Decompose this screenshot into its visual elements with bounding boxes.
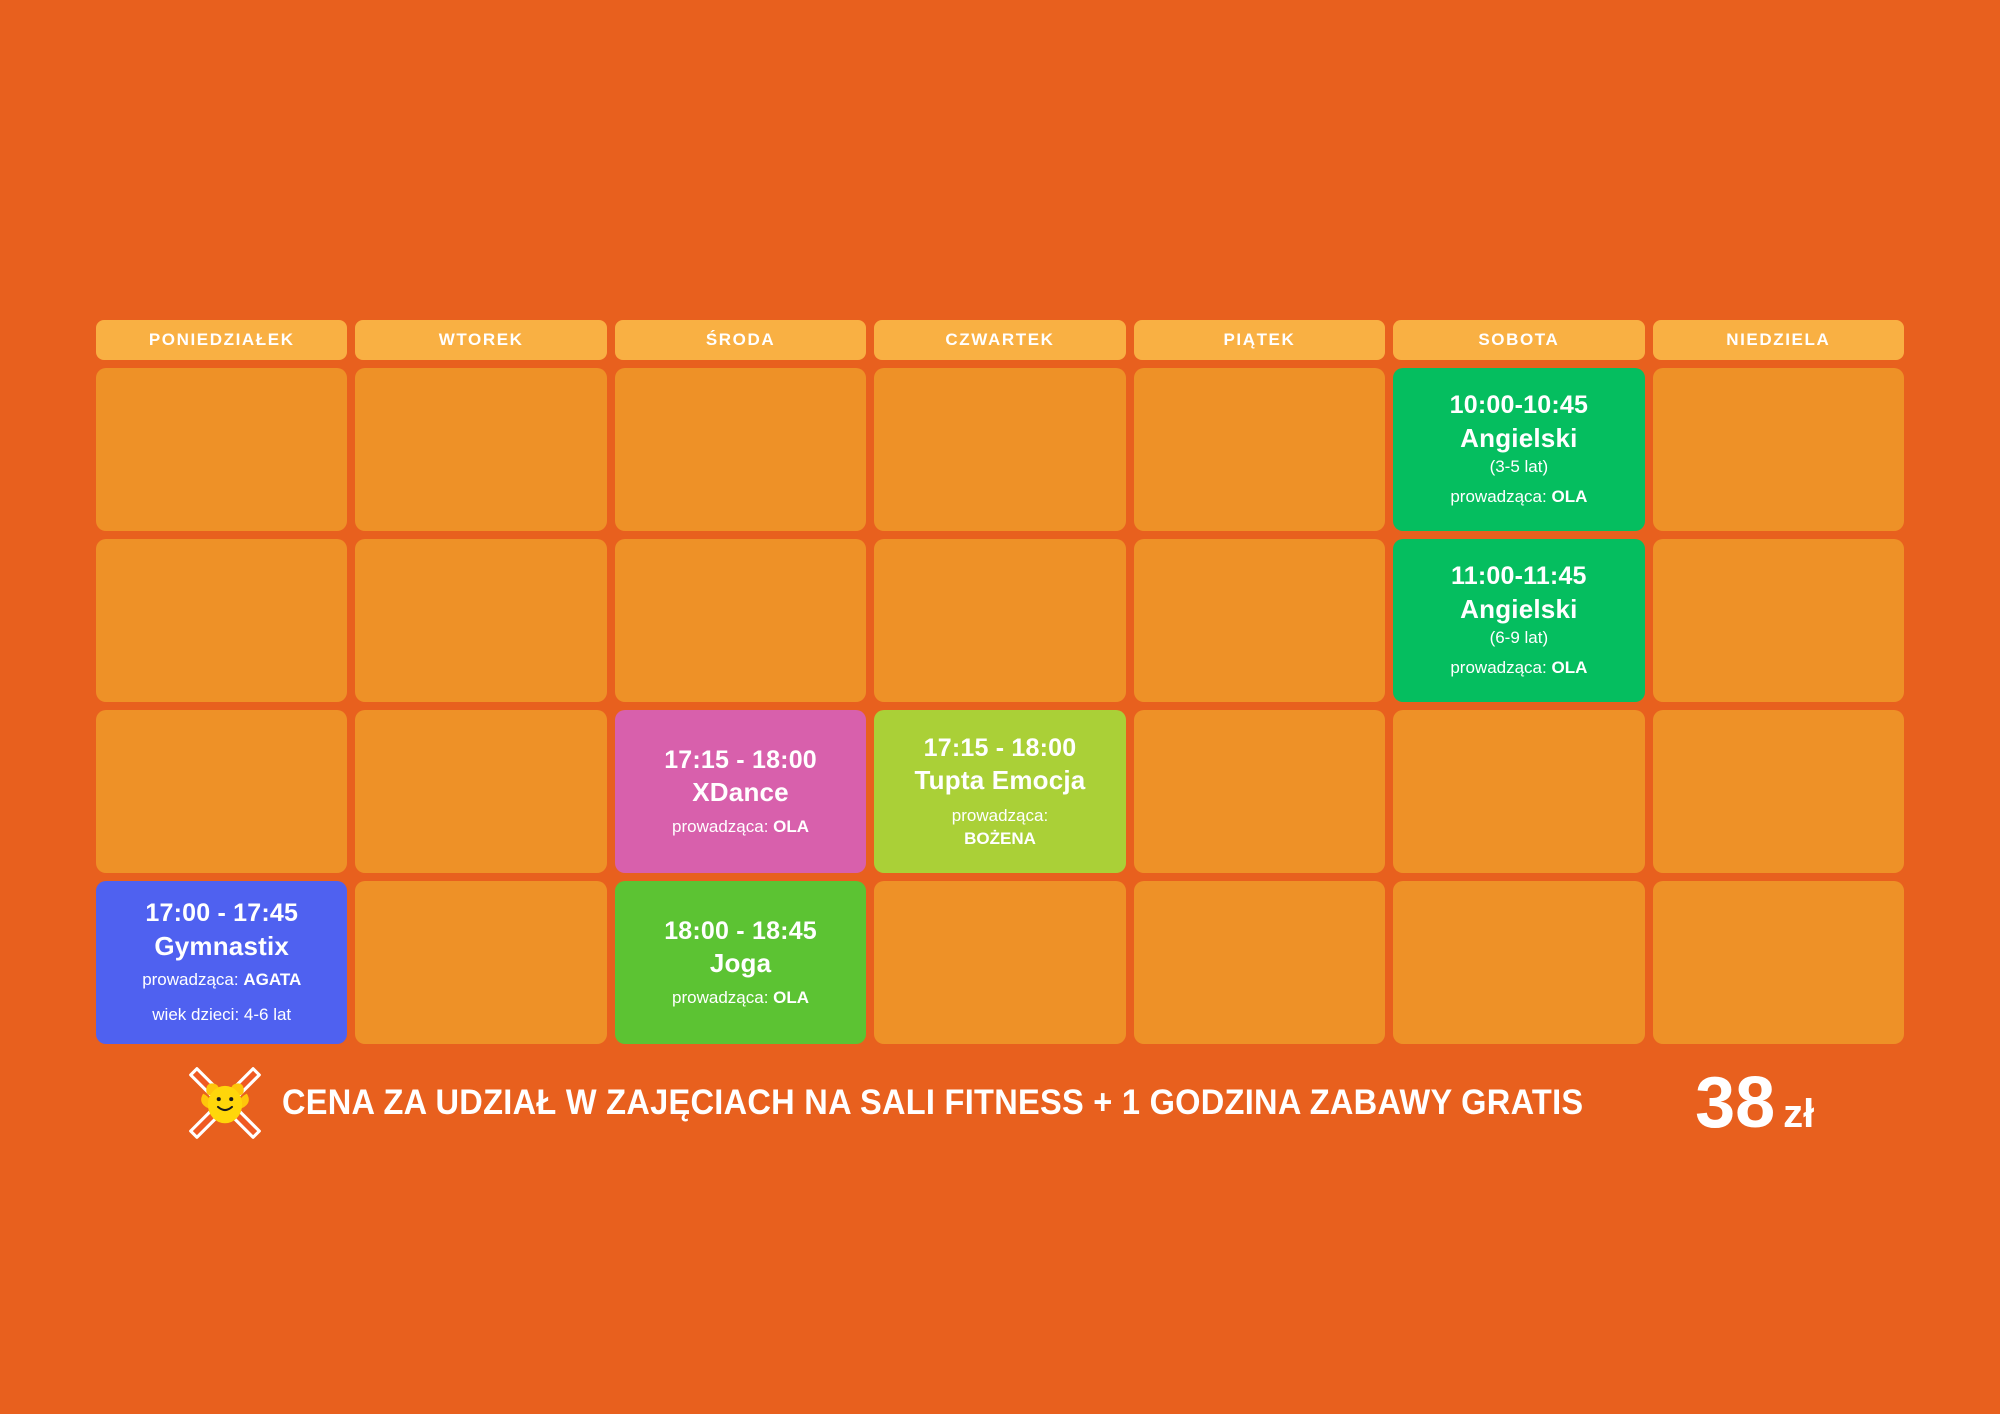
class-title: Angielski (1460, 422, 1577, 455)
empty-slot (615, 539, 866, 702)
empty-slot (1134, 710, 1385, 873)
empty-slot (1393, 710, 1644, 873)
class-time: 17:00 - 17:45 (145, 898, 298, 929)
price-value: 38 zł (1695, 1067, 1814, 1139)
instructor-name: BOŻENA (964, 829, 1036, 848)
day-header-2: ŚRODA (615, 320, 866, 360)
empty-slot (1134, 368, 1385, 531)
day-header-1: WTOREK (355, 320, 606, 360)
instructor-label: prowadząca: (1450, 487, 1551, 506)
class-age-range: (3-5 lat) (1490, 456, 1549, 478)
empty-slot (96, 710, 347, 873)
class-card[interactable]: 18:00 - 18:45Jogaprowadząca: OLA (615, 881, 866, 1044)
instructor-name: OLA (773, 817, 809, 836)
class-time: 18:00 - 18:45 (664, 916, 817, 947)
class-card[interactable]: 10:00-10:45Angielski(3-5 lat)prowadząca:… (1393, 368, 1644, 531)
class-title: Tupta Emocja (915, 764, 1086, 797)
empty-slot (355, 368, 606, 531)
price-amount: 38 (1695, 1067, 1775, 1139)
day-header-5: SOBOTA (1393, 320, 1644, 360)
empty-slot (1653, 368, 1904, 531)
empty-slot (1134, 881, 1385, 1044)
class-instructor: prowadząca: OLA (1450, 657, 1587, 680)
class-instructor: prowadząca: OLA (1450, 486, 1587, 509)
class-card[interactable]: 11:00-11:45Angielski(6-9 lat)prowadząca:… (1393, 539, 1644, 702)
x-smiley-logo-icon (186, 1064, 264, 1142)
day-header-6: NIEDZIELA (1653, 320, 1904, 360)
class-instructor: prowadząca: OLA (672, 816, 809, 839)
class-title: Joga (710, 947, 771, 980)
instructor-name: AGATA (243, 970, 301, 989)
empty-slot (1134, 539, 1385, 702)
day-header-4: PIĄTEK (1134, 320, 1385, 360)
empty-slot (355, 539, 606, 702)
empty-slot (96, 539, 347, 702)
empty-slot (1653, 710, 1904, 873)
instructor-name: OLA (773, 988, 809, 1007)
instructor-label: prowadząca: (142, 970, 243, 989)
day-header-3: CZWARTEK (874, 320, 1125, 360)
class-card[interactable]: 17:15 - 18:00XDanceprowadząca: OLA (615, 710, 866, 873)
class-time: 10:00-10:45 (1450, 390, 1588, 421)
class-age-note: wiek dzieci: 4-6 lat (152, 1004, 291, 1027)
instructor-label: prowadząca: (952, 806, 1048, 825)
empty-slot (615, 368, 866, 531)
instructor-label: prowadząca: (672, 817, 773, 836)
class-title: Gymnastix (154, 930, 289, 963)
class-time: 17:15 - 18:00 (924, 733, 1077, 764)
day-header-0: PONIEDZIAŁEK (96, 320, 347, 360)
empty-slot (874, 368, 1125, 531)
schedule-grid: PONIEDZIAŁEKWTOREKŚRODACZWARTEKPIĄTEKSOB… (96, 320, 1904, 1044)
class-instructor: prowadząca: OLA (672, 987, 809, 1010)
weekly-schedule: PONIEDZIAŁEKWTOREKŚRODACZWARTEKPIĄTEKSOB… (96, 320, 1904, 1044)
class-card[interactable]: 17:15 - 18:00Tupta Emocjaprowadząca:BOŻE… (874, 710, 1125, 873)
class-title: XDance (692, 776, 789, 809)
empty-slot (355, 710, 606, 873)
class-instructor: prowadząca: AGATA (142, 969, 301, 992)
empty-slot (874, 539, 1125, 702)
banner-text: CENA ZA UDZIAŁ W ZAJĘCIACH NA SALI FITNE… (282, 1083, 1583, 1123)
class-time: 17:15 - 18:00 (664, 745, 817, 776)
empty-slot (1393, 881, 1644, 1044)
class-time: 11:00-11:45 (1451, 561, 1587, 592)
class-card[interactable]: 17:00 - 17:45Gymnastixprowadząca: AGATAw… (96, 881, 347, 1044)
empty-slot (874, 881, 1125, 1044)
empty-slot (96, 368, 347, 531)
instructor-label: prowadząca: (672, 988, 773, 1007)
instructor-label: prowadząca: (1450, 658, 1551, 677)
empty-slot (1653, 539, 1904, 702)
empty-slot (1653, 881, 1904, 1044)
price-currency: zł (1783, 1094, 1814, 1134)
class-age-range: (6-9 lat) (1490, 627, 1549, 649)
instructor-name: OLA (1551, 658, 1587, 677)
price-banner: CENA ZA UDZIAŁ W ZAJĘCIACH NA SALI FITNE… (0, 1055, 2000, 1151)
empty-slot (355, 881, 606, 1044)
class-title: Angielski (1460, 593, 1577, 626)
instructor-name: OLA (1551, 487, 1587, 506)
class-instructor: prowadząca:BOŻENA (952, 805, 1048, 851)
